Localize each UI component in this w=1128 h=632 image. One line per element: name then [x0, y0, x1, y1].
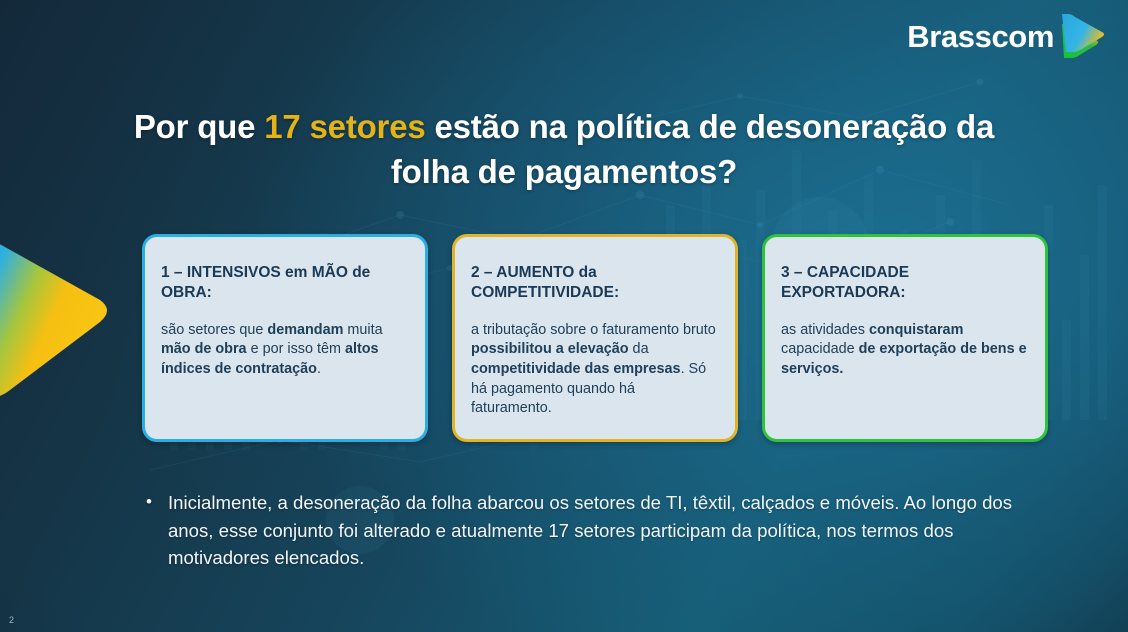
brasscom-logo: Brasscom: [907, 12, 1106, 60]
title-highlight: 17 setores: [264, 108, 425, 145]
card-heading: 2 – AUMENTO da COMPETITIVIDADE:: [471, 263, 719, 304]
card-body: a tributação sobre o faturamento bruto p…: [471, 321, 719, 419]
title-part-2: estão na política de desoneração da folh…: [391, 108, 994, 190]
card-aumento-competitividade: 2 – AUMENTO da COMPETITIVIDADE: a tribut…: [452, 234, 738, 442]
left-chevron-decoration: [0, 222, 147, 417]
bullet-text: Inicialmente, a desoneração da folha aba…: [168, 489, 1026, 572]
card-heading: 3 – CAPACIDADE EXPORTADORA:: [781, 263, 1029, 304]
card-body: são setores que demandam muita mão de ob…: [161, 321, 409, 380]
card-heading: 1 – INTENSIVOS em MÃO de OBRA:: [161, 263, 409, 304]
slide-canvas: Brasscom Por que 17 setores estão na pol…: [0, 0, 1128, 632]
logo-wordmark: Brasscom: [907, 21, 1054, 52]
card-body: as atividades conquistaram capacidade de…: [781, 321, 1029, 380]
card-intensivos-mao-de-obra: 1 – INTENSIVOS em MÃO de OBRA: são setor…: [142, 234, 428, 442]
page-title: Por que 17 setores estão na política de …: [0, 104, 1128, 194]
card-capacidade-exportadora: 3 – CAPACIDADE EXPORTADORA: as atividade…: [762, 234, 1048, 442]
page-number: 2: [9, 615, 14, 625]
motivation-cards: 1 – INTENSIVOS em MÃO de OBRA: são setor…: [142, 234, 1048, 442]
bullet-marker-icon: •: [146, 489, 152, 572]
title-part-1: Por que: [134, 108, 264, 145]
summary-bullet: • Inicialmente, a desoneração da folha a…: [146, 489, 1026, 572]
logo-chevron-icon: [1060, 12, 1106, 58]
